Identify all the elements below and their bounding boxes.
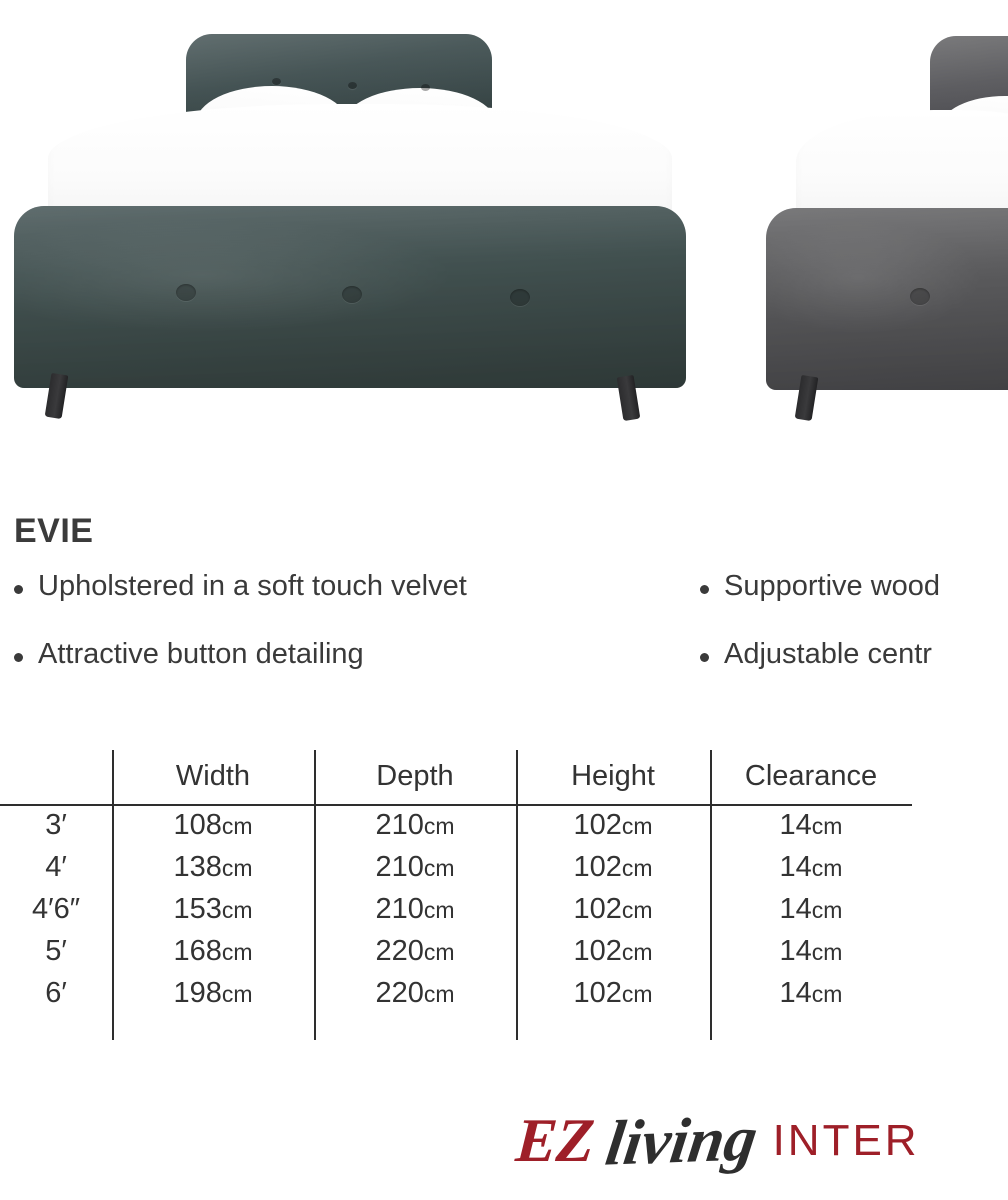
footboard-button [910,288,930,305]
table-divider-2 [314,750,316,1040]
product-photo-band [0,0,1008,470]
cell-size: 5′ [0,930,112,972]
bullet-icon [700,585,709,594]
table-row: 6′ 198cm 220cm 102cm 14cm [0,972,912,1014]
list-item: Adjustable centr [700,640,1008,708]
feature-text: Supportive wood [724,572,940,601]
cell-height: 102cm [516,972,710,1014]
brand-logo: EZ living INTER [516,1098,920,1184]
cell-depth: 220cm [314,930,516,972]
logo-interiors-text: INTER [773,1119,920,1163]
cell-clearance: 14cm [710,930,912,972]
cell-width: 108cm [112,804,314,846]
table-row: 3′ 108cm 210cm 102cm 14cm [0,804,912,846]
footboard-button [342,286,362,303]
feature-text: Adjustable centr [724,640,932,669]
list-item: Attractive button detailing [14,640,674,708]
cell-height: 102cm [516,846,710,888]
cell-depth: 210cm [314,846,516,888]
table-body: 3′ 108cm 210cm 102cm 14cm 4′ 138cm 210cm… [0,804,912,1014]
cell-width: 138cm [112,846,314,888]
cell-size: 6′ [0,972,112,1014]
table-divider-1 [112,750,114,1040]
cell-clearance: 14cm [710,888,912,930]
footboard-button [176,284,196,301]
column-header-size [0,748,112,804]
list-item: Supportive wood [700,572,1008,640]
table-row: 4′ 138cm 210cm 102cm 14cm [0,846,912,888]
bullet-icon [14,585,23,594]
cell-depth: 210cm [314,888,516,930]
cell-size: 4′6″ [0,888,112,930]
feature-column-left: Upholstered in a soft touch velvet Attra… [14,572,674,708]
footboard-button [510,289,530,306]
product-photo-bed-grey [744,0,1008,440]
cell-size: 4′ [0,846,112,888]
table-row: 5′ 168cm 220cm 102cm 14cm [0,930,912,972]
list-item: Upholstered in a soft touch velvet [14,572,674,640]
table-row: 4′6″ 153cm 210cm 102cm 14cm [0,888,912,930]
column-header-clearance: Clearance [710,748,912,804]
column-header-height: Height [516,748,710,804]
product-photo-bed-teal [0,0,700,440]
cell-width: 153cm [112,888,314,930]
page-title: EVIE [14,512,93,551]
cell-height: 102cm [516,804,710,846]
headboard-button [272,78,281,85]
logo-ez-text: EZ [514,1110,596,1172]
table-divider-3 [516,750,518,1040]
spec-grid: Width Depth Height Clearance 3′ 108cm 21… [0,748,912,1014]
cell-height: 102cm [516,888,710,930]
cell-size: 3′ [0,804,112,846]
cell-depth: 210cm [314,804,516,846]
cell-height: 102cm [516,930,710,972]
cell-clearance: 14cm [710,804,912,846]
bullet-icon [700,653,709,662]
footboard-grey [766,208,1008,390]
headboard-button [421,84,430,91]
table-header-rule [0,804,912,806]
column-header-depth: Depth [314,748,516,804]
feature-column-right: Supportive wood Adjustable centr [700,572,1008,708]
feature-text: Upholstered in a soft touch velvet [38,572,467,601]
cell-clearance: 14cm [710,972,912,1014]
table-header: Width Depth Height Clearance [0,748,912,804]
table-header-row: Width Depth Height Clearance [0,748,912,804]
bullet-icon [14,653,23,662]
cell-width: 198cm [112,972,314,1014]
cell-width: 168cm [112,930,314,972]
cell-clearance: 14cm [710,846,912,888]
feature-text: Attractive button detailing [38,640,364,669]
dimensions-table: Width Depth Height Clearance 3′ 108cm 21… [0,748,1008,1048]
logo-living-text: living [602,1106,761,1175]
headboard-button [348,82,357,89]
column-header-width: Width [112,748,314,804]
cell-depth: 220cm [314,972,516,1014]
table-divider-4 [710,750,712,1040]
